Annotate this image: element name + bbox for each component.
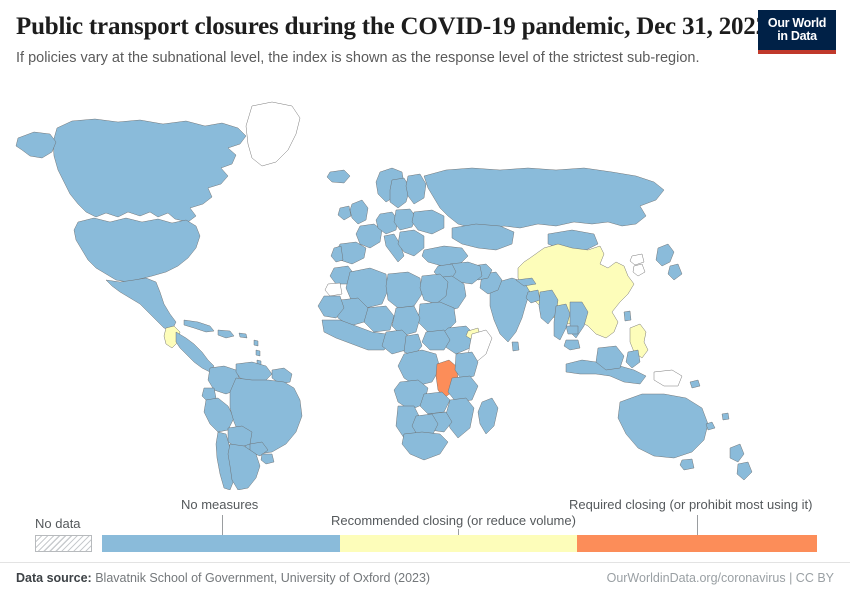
country-ukraine[interactable] [412, 210, 444, 234]
region-central-america[interactable] [176, 332, 214, 372]
country-mexico[interactable] [106, 278, 176, 330]
our-world-in-data-logo[interactable]: Our World in Data [758, 10, 836, 54]
country-libya[interactable] [386, 272, 422, 308]
country-kenya[interactable] [455, 352, 478, 380]
island-antilles-chain[interactable] [254, 340, 261, 366]
country-japan[interactable] [656, 244, 682, 280]
page-subtitle: If policies vary at the subnational leve… [16, 48, 834, 68]
legend-label-recommended-closing: Recommended closing (or reduce volume) [331, 513, 576, 528]
country-kazakhstan[interactable] [452, 224, 514, 250]
country-peru[interactable] [204, 398, 234, 432]
country-finland[interactable] [406, 174, 426, 204]
data-source-value: Blavatnik School of Government, Universi… [95, 571, 430, 585]
legend-swatch-recommended-closing[interactable] [340, 535, 577, 552]
data-source-prefix: Data source: [16, 571, 92, 585]
legend-no-data-swatch[interactable] [35, 535, 92, 552]
country-australia[interactable] [618, 394, 708, 458]
world-choropleth-map[interactable] [0, 76, 850, 490]
legend-tick-required-closing [697, 515, 698, 535]
country-zambia[interactable] [420, 392, 450, 414]
country-russia[interactable] [424, 168, 664, 230]
country-hispaniola[interactable] [218, 330, 234, 338]
country-sri-lanka[interactable] [512, 342, 519, 351]
island-fiji[interactable] [722, 413, 729, 420]
country-ireland[interactable] [338, 206, 351, 220]
footer-attribution-link[interactable]: OurWorldinData.org/coronavirus | CC BY [607, 571, 834, 585]
map-legend: No data No measures Recommended closing … [0, 492, 850, 554]
country-western-sahara[interactable] [325, 283, 342, 296]
island-solomon[interactable] [690, 380, 700, 388]
chart-footer: Data source: Blavatnik School of Governm… [0, 562, 850, 600]
country-mozambique[interactable] [446, 398, 474, 438]
country-united-kingdom[interactable] [350, 200, 368, 224]
country-cuba[interactable] [184, 320, 214, 332]
legend-no-data-label: No data [35, 516, 81, 531]
country-tanzania[interactable] [448, 376, 478, 402]
country-canada[interactable] [53, 119, 246, 222]
country-iceland[interactable] [327, 170, 350, 183]
chart-header: Public transport closures during the COV… [0, 0, 850, 76]
country-greenland[interactable] [246, 102, 300, 166]
legend-color-bar [102, 535, 817, 552]
country-niger[interactable] [364, 306, 394, 332]
country-sudan[interactable] [418, 302, 456, 332]
country-south-korea[interactable] [633, 264, 645, 276]
legend-label-no-measures: No measures [181, 497, 258, 512]
country-north-korea[interactable] [630, 254, 644, 265]
country-south-sudan[interactable] [422, 330, 450, 350]
country-south-africa[interactable] [402, 432, 448, 460]
country-taiwan[interactable] [624, 311, 631, 321]
page-title: Public transport closures during the COV… [16, 12, 834, 42]
country-malaysia[interactable] [564, 340, 580, 350]
country-thailand[interactable] [554, 304, 570, 340]
country-united-states[interactable] [74, 218, 200, 282]
logo-line-1: Our World [768, 17, 826, 31]
country-portugal[interactable] [331, 246, 343, 262]
region-lesser-antilles[interactable] [239, 333, 247, 338]
country-uruguay[interactable] [261, 454, 274, 464]
logo-line-2: in Data [777, 30, 817, 44]
world-map-svg [0, 76, 850, 490]
data-source-text: Data source: Blavatnik School of Governm… [16, 571, 430, 585]
legend-swatch-required-closing[interactable] [577, 535, 817, 552]
country-new-zealand[interactable] [730, 444, 752, 480]
country-united-states-alaska[interactable] [16, 132, 56, 158]
legend-swatch-no-measures[interactable] [102, 535, 340, 552]
legend-label-required-closing: Required closing (or prohibit most using… [569, 497, 813, 512]
island-sulawesi[interactable] [626, 350, 640, 368]
country-cambodia[interactable] [566, 326, 578, 334]
country-tasmania[interactable] [680, 459, 694, 470]
country-madagascar[interactable] [478, 398, 498, 434]
legend-tick-no-measures [222, 515, 223, 535]
country-papua-new-guinea[interactable] [654, 370, 682, 386]
